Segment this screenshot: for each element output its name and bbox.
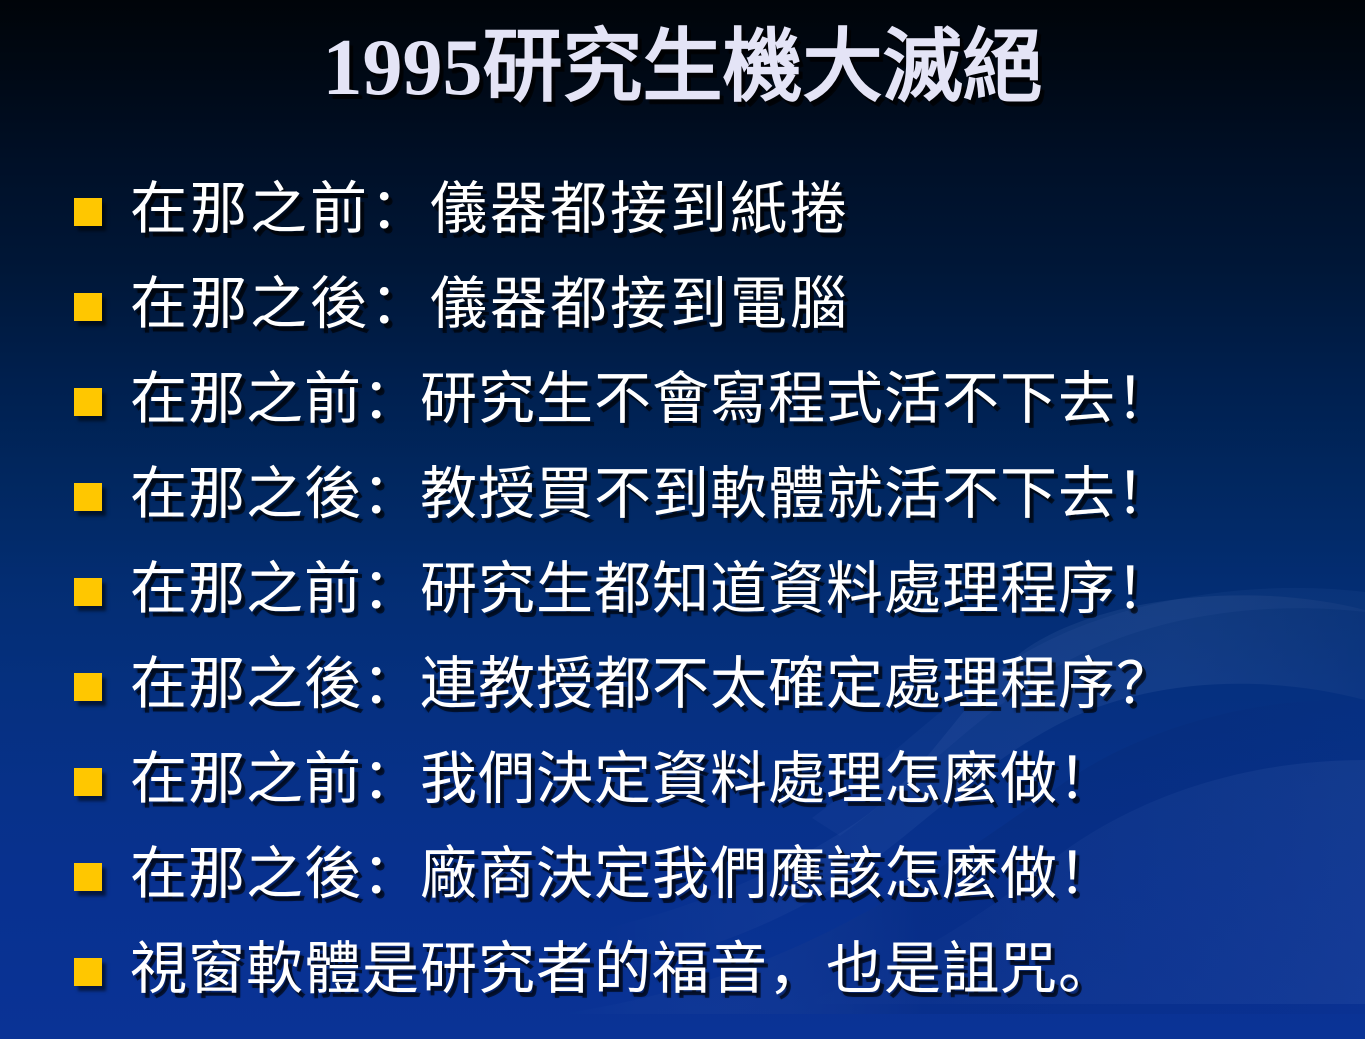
square-bullet-icon [74,673,102,701]
list-item-label: 在那之前：研究生都知道資料處理程序！ [130,561,1174,618]
square-bullet-icon [74,388,102,416]
square-bullet-icon [74,958,102,986]
page-title: 1995研究生機大滅絕 [323,26,1043,110]
square-bullet-icon [74,293,102,321]
list-item[interactable]: 在那之後：廠商決定我們應該怎麼做！ [0,827,1365,922]
square-bullet-icon [74,198,102,226]
square-bullet-icon [74,768,102,796]
list-item-label: 在那之前：我們決定資料處理怎麼做！ [130,751,1116,808]
list-item[interactable]: 在那之前：我們決定資料處理怎麼做！ [0,732,1365,827]
list-item-label: 在那之前：儀器都接到紙捲 [130,181,850,238]
list-item[interactable]: 在那之前：研究生不會寫程式活不下去！ [0,352,1365,447]
square-bullet-icon [74,483,102,511]
list-item[interactable]: 在那之前：儀器都接到紙捲 [0,162,1365,257]
list-item-label: 在那之後：儀器都接到電腦 [130,276,850,333]
list-item-label: 在那之後：教授買不到軟體就活不下去！ [130,466,1174,523]
list-item[interactable]: 在那之後：教授買不到軟體就活不下去！ [0,447,1365,542]
list-item[interactable]: 在那之後：儀器都接到電腦 [0,257,1365,352]
list-item[interactable]: 在那之後：連教授都不太確定處理程序？ [0,637,1365,732]
list-item-label: 視窗軟體是研究者的福音，也是詛咒。 [130,941,1116,998]
square-bullet-icon [74,863,102,891]
list-item-label: 在那之前：研究生不會寫程式活不下去！ [130,371,1174,428]
presentation-slide: 1995研究生機大滅絕 在那之前：儀器都接到紙捲 在那之後：儀器都接到電腦 在那… [0,0,1365,1039]
list-item[interactable]: 視窗軟體是研究者的福音，也是詛咒。 [0,922,1365,1017]
slide-body-bullet-list: 在那之前：儀器都接到紙捲 在那之後：儀器都接到電腦 在那之前：研究生不會寫程式活… [0,162,1365,1039]
square-bullet-icon [74,578,102,606]
list-item-label: 在那之後：廠商決定我們應該怎麼做！ [130,846,1116,903]
list-item[interactable]: 在那之前：研究生都知道資料處理程序！ [0,542,1365,637]
list-item-label: 在那之後：連教授都不太確定處理程序？ [130,656,1174,713]
slide-title-area: 1995研究生機大滅絕 [0,10,1365,125]
